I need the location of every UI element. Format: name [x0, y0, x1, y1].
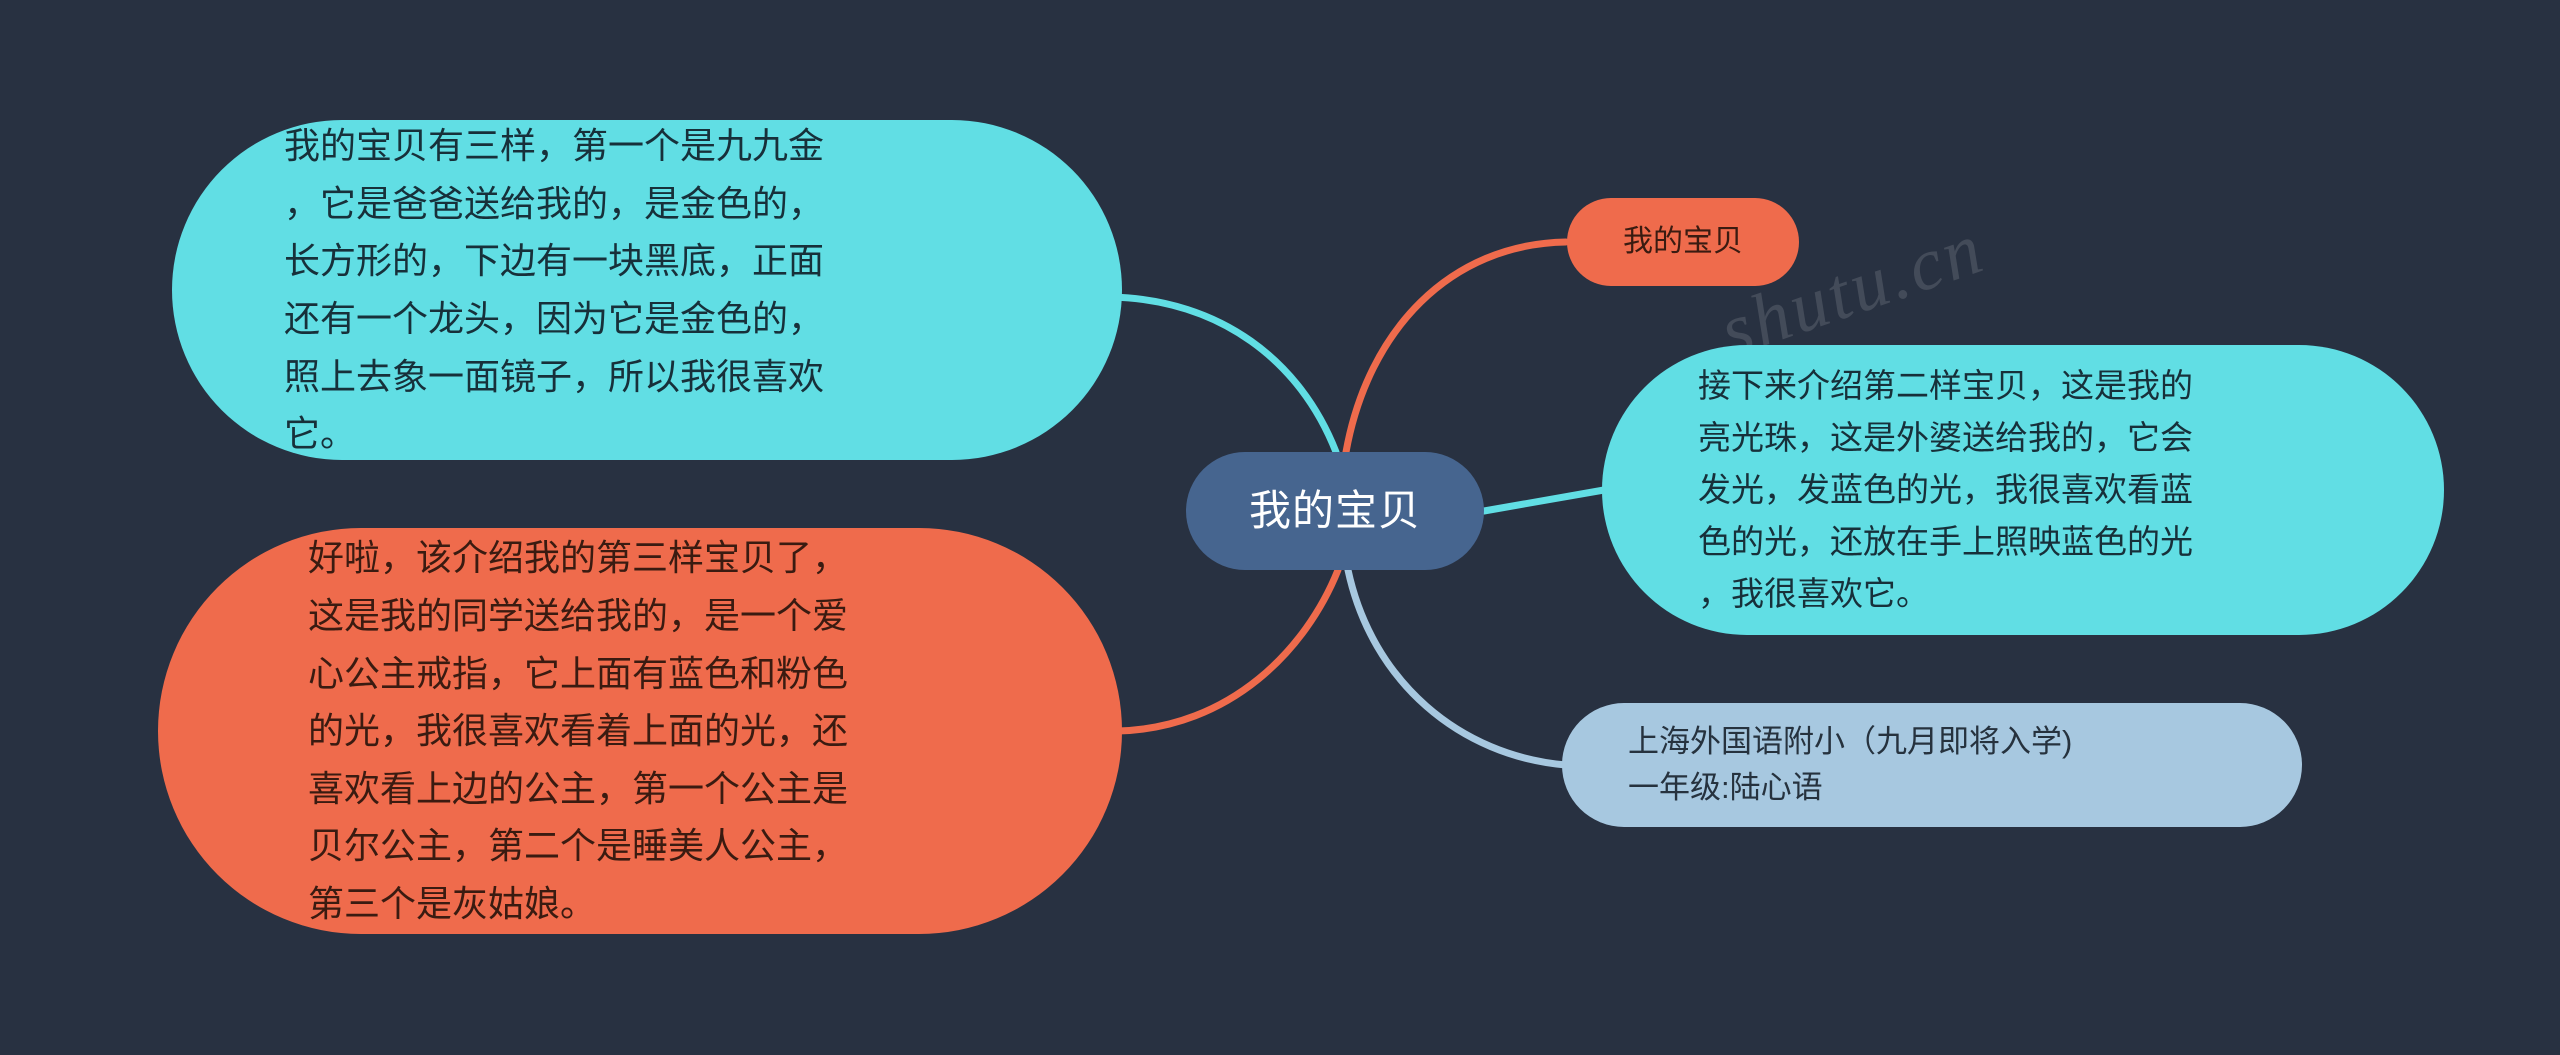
- connector-first-treasure: [1112, 297, 1336, 452]
- node-school-info[interactable]: 上海外国语附小（九月即将入学) 一年级:陆心语: [1562, 703, 2302, 827]
- connector-second-treasure: [1484, 490, 1604, 511]
- connector-third-treasure: [1118, 570, 1338, 731]
- node-root-label: 我的宝贝: [1186, 486, 1484, 536]
- node-title-chip-label: 我的宝贝: [1567, 224, 1799, 260]
- node-school-info-label: 上海外国语附小（九月即将入学) 一年级:陆心语: [1628, 719, 2262, 811]
- node-second-treasure[interactable]: 接下来介绍第二样宝贝，这是我的 亮光珠，这是外婆送给我的，它会 发光，发蓝色的光…: [1602, 345, 2444, 635]
- node-third-treasure-label: 好啦，该介绍我的第三样宝贝了， 这是我的同学送给我的，是一个爱 心公主戒指，它上…: [308, 529, 1078, 932]
- connector-title-chip: [1346, 242, 1566, 452]
- node-title-chip[interactable]: 我的宝贝: [1567, 198, 1799, 286]
- node-second-treasure-label: 接下来介绍第二样宝贝，这是我的 亮光珠，这是外婆送给我的，它会 发光，发蓝色的光…: [1698, 360, 2398, 621]
- node-third-treasure[interactable]: 好啦，该介绍我的第三样宝贝了， 这是我的同学送给我的，是一个爱 心公主戒指，它上…: [158, 528, 1122, 934]
- connector-school-info: [1348, 570, 1566, 765]
- node-first-treasure[interactable]: 我的宝贝有三样，第一个是九九金 ，它是爸爸送给我的，是金色的， 长方形的，下边有…: [172, 120, 1122, 460]
- node-root[interactable]: 我的宝贝: [1186, 452, 1484, 570]
- node-first-treasure-label: 我的宝贝有三样，第一个是九九金 ，它是爸爸送给我的，是金色的， 长方形的，下边有…: [284, 117, 1078, 463]
- mindmap-canvas: shutu.cn shutu.cn shutu.cn 我的宝贝有三样，第一个是九…: [0, 0, 2560, 1055]
